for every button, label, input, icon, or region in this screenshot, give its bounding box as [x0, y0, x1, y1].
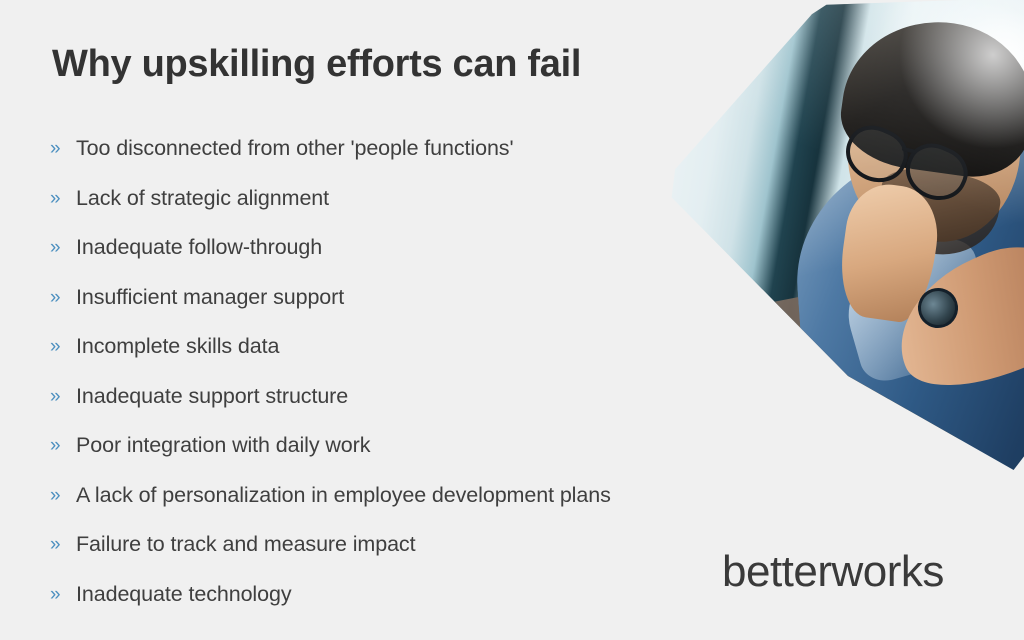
- list-item-label: Failure to track and measure impact: [76, 531, 415, 558]
- list-item-label: A lack of personalization in employee de…: [76, 482, 611, 509]
- list-item: » Insufficient manager support: [48, 273, 768, 323]
- page-title: Why upskilling efforts can fail: [52, 43, 581, 87]
- list-item: » Inadequate support structure: [48, 372, 768, 422]
- list-item: » Failure to track and measure impact: [48, 520, 768, 570]
- list-item-label: Inadequate support structure: [76, 383, 348, 410]
- chevron-double-right-icon: »: [48, 535, 76, 554]
- failure-reasons-list: » Too disconnected from other 'people fu…: [48, 124, 768, 619]
- chevron-double-right-icon: »: [48, 585, 76, 604]
- list-item: » Inadequate technology: [48, 570, 768, 620]
- chevron-double-right-icon: »: [48, 436, 76, 455]
- betterworks-wordmark: betterworks: [722, 549, 944, 596]
- list-item-label: Inadequate technology: [76, 581, 291, 608]
- chevron-double-right-icon: »: [48, 486, 76, 505]
- list-item-label: Too disconnected from other 'people func…: [76, 135, 513, 162]
- chevron-double-right-icon: »: [48, 139, 76, 158]
- list-item-label: Inadequate follow-through: [76, 234, 322, 261]
- chevron-double-right-icon: »: [48, 189, 76, 208]
- slide-canvas: Why upskilling efforts can fail » Too di…: [0, 0, 1024, 640]
- chevron-double-right-icon: »: [48, 288, 76, 307]
- list-item-label: Lack of strategic alignment: [76, 185, 329, 212]
- list-item: » A lack of personalization in employee …: [48, 471, 768, 521]
- list-item: » Inadequate follow-through: [48, 223, 768, 273]
- chevron-double-right-icon: »: [48, 238, 76, 257]
- betterworks-logo: betterworks: [722, 549, 1002, 597]
- list-item-label: Incomplete skills data: [76, 333, 279, 360]
- chevron-double-right-icon: »: [48, 387, 76, 406]
- chevron-double-right-icon: »: [48, 337, 76, 356]
- list-item-label: Poor integration with daily work: [76, 432, 370, 459]
- list-item: » Too disconnected from other 'people fu…: [48, 124, 768, 174]
- list-item-label: Insufficient manager support: [76, 284, 344, 311]
- list-item: » Lack of strategic alignment: [48, 174, 768, 224]
- list-item: » Poor integration with daily work: [48, 421, 768, 471]
- list-item: » Incomplete skills data: [48, 322, 768, 372]
